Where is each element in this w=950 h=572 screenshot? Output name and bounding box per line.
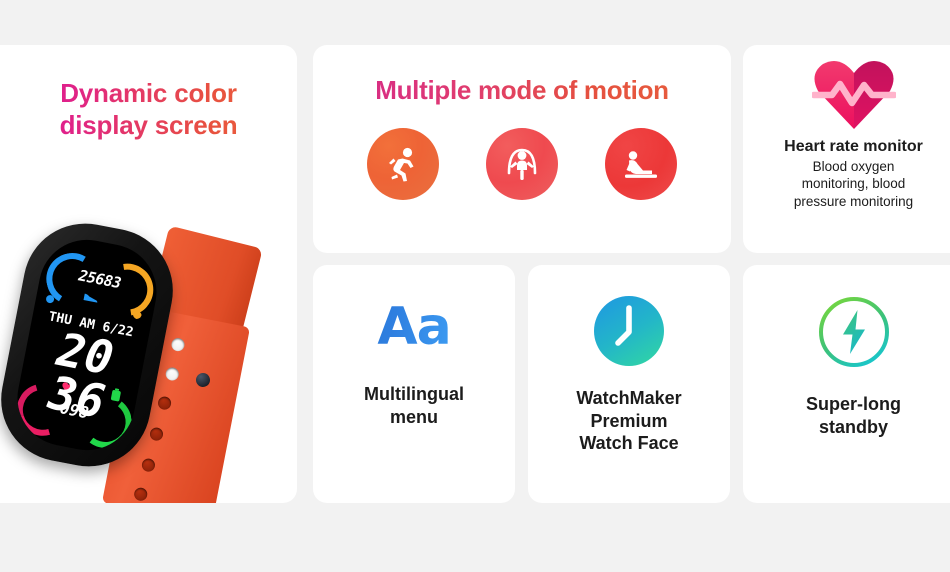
card-multiple-motion-modes: Multiple mode of motion	[313, 45, 731, 253]
standby-caption-line2: standby	[753, 416, 950, 439]
heart-rate-title: Heart rate monitor	[743, 138, 950, 156]
jump-rope-icon[interactable]	[486, 128, 558, 200]
dynamic-color-title-line2: display screen	[0, 109, 297, 141]
sit-up-glyph	[620, 143, 662, 185]
clock-glyph	[593, 295, 665, 367]
card-super-long-standby: Super-long standby	[743, 265, 950, 503]
watchface-caption-line2: Premium	[538, 410, 720, 433]
heart-rate-subtitle: Blood oxygen monitoring, blood pressure …	[743, 158, 950, 210]
standby-caption-line1: Super-long	[753, 393, 950, 416]
motion-icon-row	[313, 128, 731, 200]
standby-caption: Super-long standby	[743, 393, 950, 438]
multilingual-caption: Multilingual menu	[313, 383, 515, 428]
feature-grid-page: Dynamic color display screen	[0, 0, 950, 572]
watchface-caption-line1: WatchMaker	[538, 387, 720, 410]
running-glyph	[383, 144, 423, 184]
running-icon[interactable]	[367, 128, 439, 200]
heart-sub-line2: monitoring, blood	[755, 175, 950, 192]
multilingual-caption-line2: menu	[323, 406, 505, 429]
clock-icon	[528, 295, 730, 367]
jump-rope-glyph	[501, 143, 543, 185]
card-watchmaker-watch-face: WatchMaker Premium Watch Face	[528, 265, 730, 503]
heart-pulse-icon	[743, 57, 950, 131]
card-multilingual-menu: Aa Multilingual menu	[313, 265, 515, 503]
heart-sub-line3: pressure monitoring	[755, 193, 950, 210]
flame-icon	[131, 305, 144, 320]
dynamic-color-title-line1: Dynamic color	[0, 77, 297, 109]
dynamic-color-title: Dynamic color display screen	[0, 77, 297, 141]
watchface-caption: WatchMaker Premium Watch Face	[528, 387, 730, 455]
card-dynamic-color-display: Dynamic color display screen	[0, 45, 297, 503]
watchface-caption-line3: Watch Face	[538, 432, 720, 455]
sit-up-icon[interactable]	[605, 128, 677, 200]
smartwatch-photo: 25683 THU AM 6/22 20 36 098	[0, 195, 297, 503]
heart-sub-line1: Blood oxygen	[755, 158, 950, 175]
aa-typography-icon: Aa	[313, 297, 515, 357]
watch-steps-dot	[45, 294, 54, 303]
lightning-bolt-icon	[743, 295, 950, 369]
multilingual-caption-line1: Multilingual	[323, 383, 505, 406]
card-heart-rate-monitor: Heart rate monitor Blood oxygen monitori…	[743, 45, 950, 253]
shoe-icon	[82, 290, 100, 305]
motion-title: Multiple mode of motion	[313, 75, 731, 106]
watch-screen: 25683 THU AM 6/22 20 36 098	[9, 232, 165, 459]
heart-pulse-glyph	[812, 57, 896, 131]
lightning-bolt-glyph	[817, 295, 891, 369]
